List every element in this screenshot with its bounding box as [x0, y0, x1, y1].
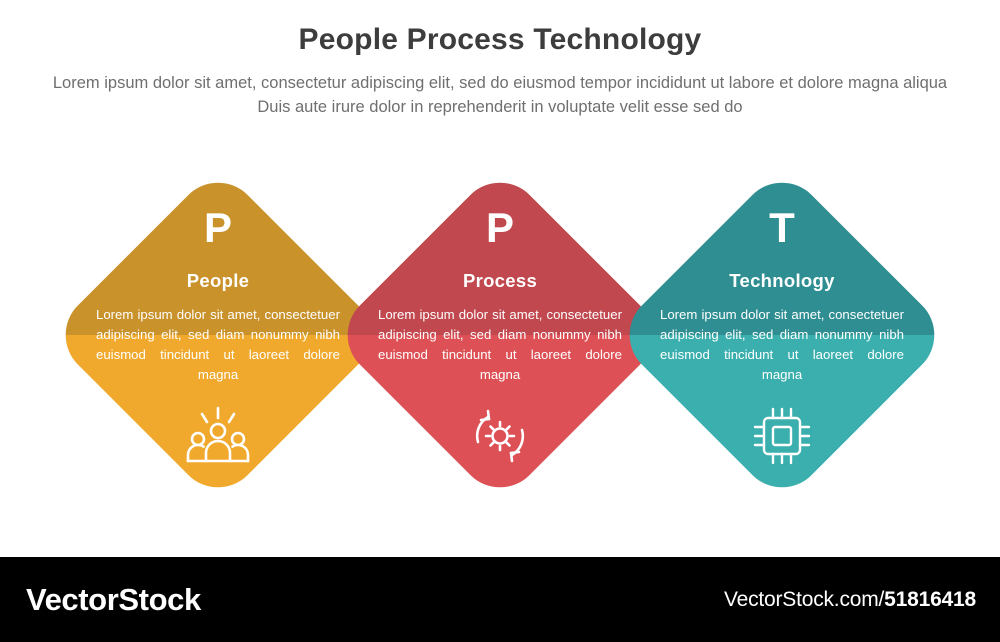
footer-watermark-bar: VectorStock VectorStock.com/51816418 — [0, 557, 1000, 642]
footer-link: VectorStock.com/51816418 — [724, 588, 976, 612]
brand-logo: VectorStock — [26, 582, 201, 618]
infographic-page: People Process Technology Lorem ipsum do… — [0, 0, 1000, 642]
node-technology-shape — [612, 165, 951, 504]
footer-site: VectorStock.com/ — [724, 588, 884, 611]
header: People Process Technology Lorem ipsum do… — [0, 22, 1000, 120]
node-technology[interactable]: T Technology Lorem ipsum dolor sit amet,… — [612, 165, 952, 505]
page-subtitle: Lorem ipsum dolor sit amet, consectetur … — [50, 72, 950, 120]
diagram: P People Lorem ipsum dolor sit amet, con… — [0, 150, 1000, 540]
footer-code: 51816418 — [884, 588, 976, 611]
page-title: People Process Technology — [0, 22, 1000, 58]
